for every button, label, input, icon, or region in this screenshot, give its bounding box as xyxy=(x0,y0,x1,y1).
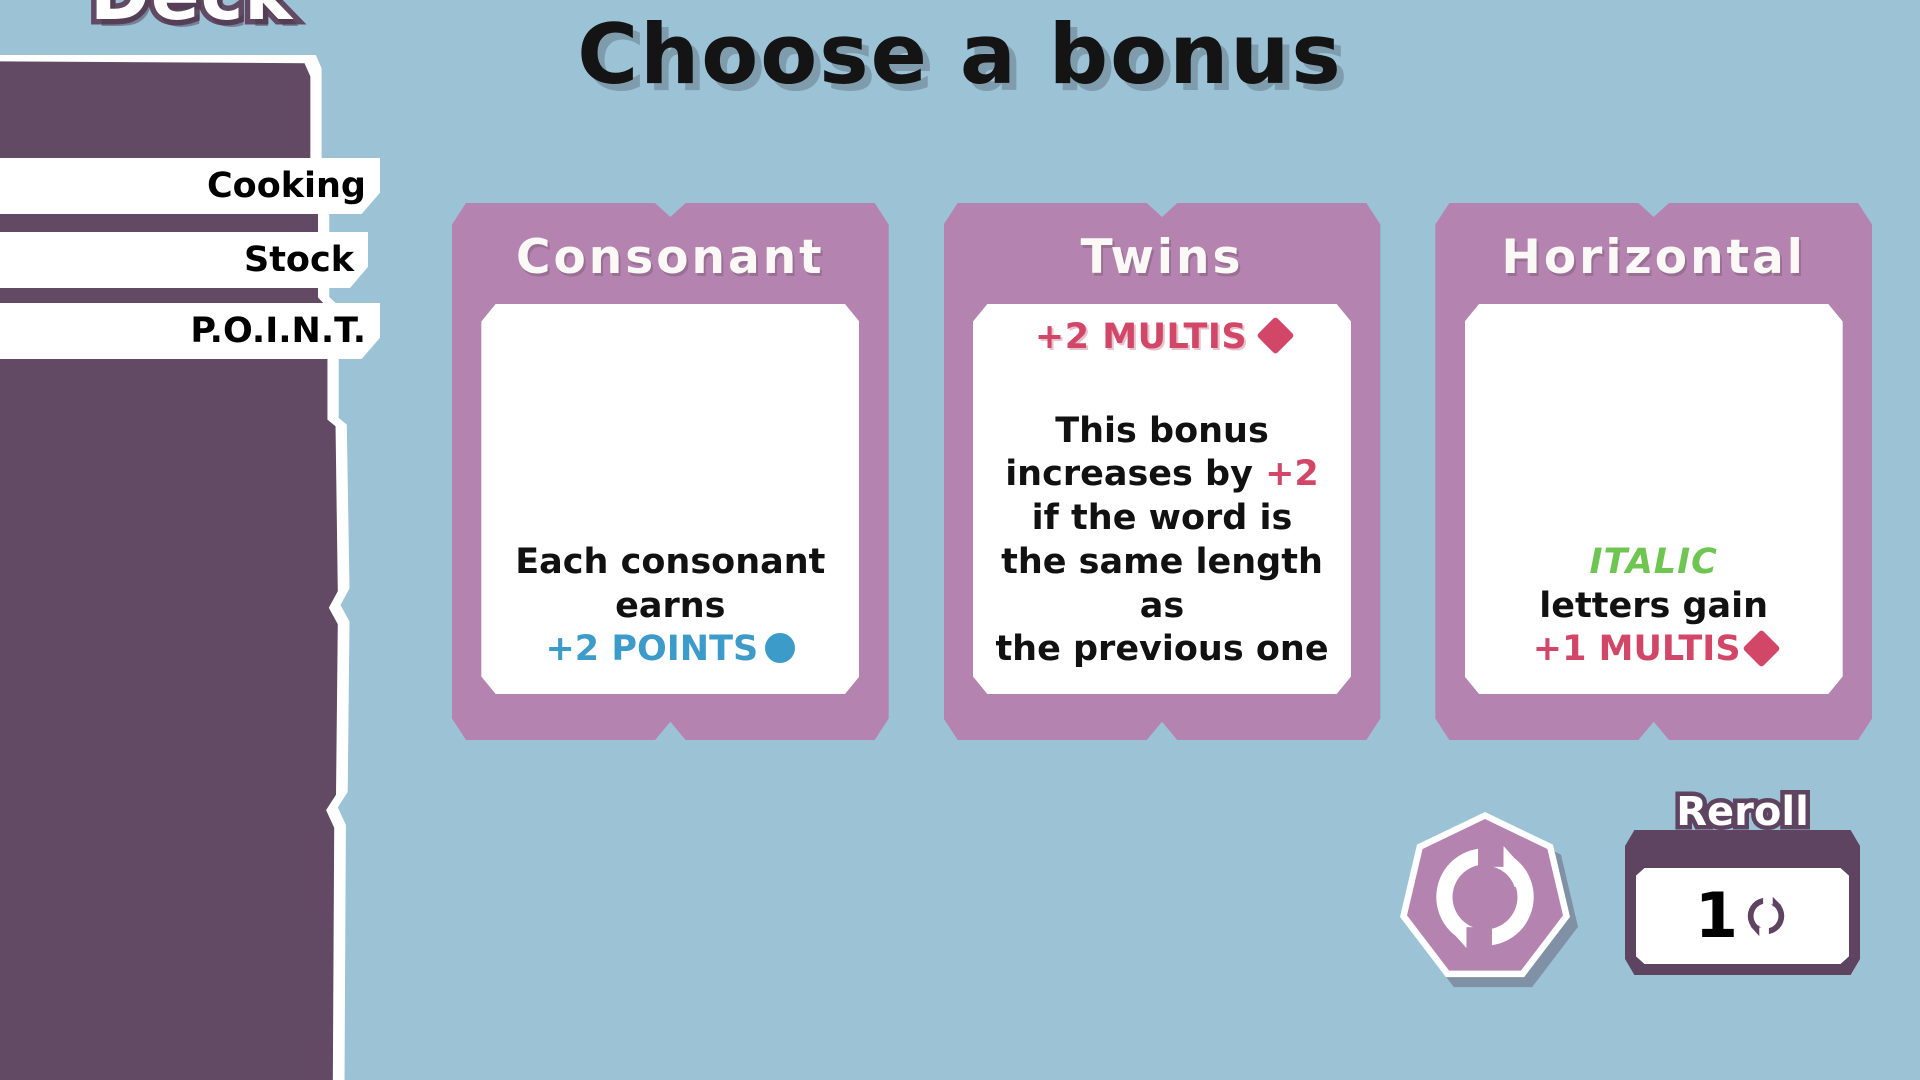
bonus-card-body: +2 MULTIS This bonus increases by +2 if … xyxy=(973,304,1351,694)
deck-item-label: Cooking xyxy=(207,166,380,206)
reroll-badge-label: Reroll xyxy=(1625,789,1860,835)
desc-part: ITALIC xyxy=(1590,542,1718,582)
desc-part: earns xyxy=(615,586,725,626)
reroll-count: 1 xyxy=(1695,885,1738,947)
deck-item-cooking[interactable]: Cooking xyxy=(0,158,380,214)
bonus-card-description: This bonus increases by +2 if the word i… xyxy=(981,410,1343,673)
desc-part: This bonus xyxy=(1055,411,1269,451)
reroll-button[interactable] xyxy=(1400,812,1578,994)
deck-item-point[interactable]: P.O.I.N.T. xyxy=(0,303,380,359)
bonus-card-title: Horizontal xyxy=(1435,234,1872,281)
bonus-card-consonant[interactable]: Consonant Each consonant earns +2 POINTS xyxy=(452,203,889,740)
bonus-card-twins[interactable]: Twins +2 MULTIS This bonus increases by … xyxy=(944,203,1381,740)
desc-part: the previous one xyxy=(995,629,1328,669)
diamond-pip-icon xyxy=(1257,316,1295,354)
bonus-card-title: Twins xyxy=(944,234,1381,281)
desc-part: the same length as xyxy=(1001,542,1323,626)
desc-part: +1 MULTIS xyxy=(1533,629,1741,669)
bonus-card-top-line: +2 MULTIS xyxy=(1035,317,1289,357)
bonus-card-list: Consonant Each consonant earns +2 POINTS… xyxy=(452,203,1872,740)
bonus-card-horizontal[interactable]: Horizontal ITALIC letters gain +1 MULTIS xyxy=(1435,203,1872,740)
bonus-card-body: ITALIC letters gain +1 MULTIS xyxy=(1465,304,1843,694)
top-line-text: +2 MULTIS xyxy=(1035,317,1247,357)
desc-part: increases by xyxy=(1005,454,1265,494)
deck-item-label: Stock xyxy=(244,240,368,280)
refresh-icon xyxy=(1742,892,1790,940)
bonus-card-title: Consonant xyxy=(452,234,889,281)
desc-part: +2 xyxy=(1265,454,1319,494)
desc-part: letters gain xyxy=(1539,586,1768,626)
desc-part: Each consonant xyxy=(515,542,825,582)
desc-part: if the word is xyxy=(1032,498,1293,538)
deck-item-label: P.O.I.N.T. xyxy=(190,311,380,351)
desc-part: +2 POINTS xyxy=(545,629,758,669)
diamond-pip-icon xyxy=(1742,629,1780,667)
reroll-count-box: 1 xyxy=(1636,868,1849,964)
bonus-card-description: ITALIC letters gain +1 MULTIS xyxy=(1473,541,1835,672)
bonus-card-description: Each consonant earns +2 POINTS xyxy=(489,541,851,672)
reroll-badge[interactable]: Reroll 1 xyxy=(1625,830,1860,975)
deck-title: Deck xyxy=(90,0,293,36)
deck-item-stock[interactable]: Stock xyxy=(0,232,368,288)
circle-pip-icon xyxy=(765,633,795,663)
refresh-icon xyxy=(1427,838,1543,956)
bonus-card-body: Each consonant earns +2 POINTS xyxy=(481,304,859,694)
